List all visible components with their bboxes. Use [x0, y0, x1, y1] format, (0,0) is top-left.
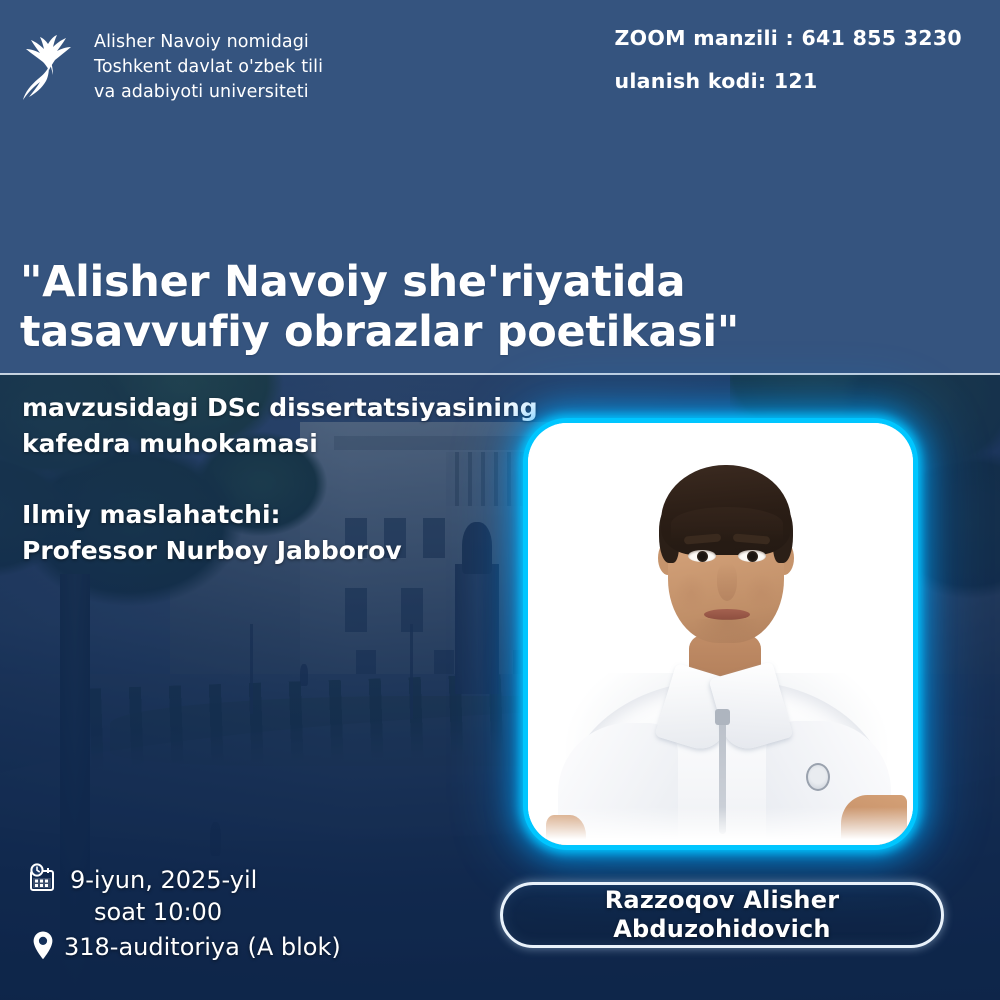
portrait-iris-left [697, 551, 708, 562]
portrait-nose [717, 563, 737, 601]
event-date-row: 9-iyun, 2025-yil [26, 862, 456, 896]
event-location-row: 318-auditoriya (A blok) [26, 928, 456, 962]
portrait-iris-right [747, 551, 758, 562]
event-info-block: 9-iyun, 2025-yil soat 10:00 318-auditori… [26, 862, 456, 962]
portrait-chin [694, 619, 760, 645]
dissertation-title: "Alisher Navoiy she'riyatida tasavvufiy … [20, 258, 920, 358]
flying-bird-logo-icon [18, 26, 80, 108]
portrait-hair [661, 465, 791, 555]
brand-block: Alisher Navoiy nomidagi Toshkent davlat … [18, 26, 323, 108]
event-time: soat 10:00 [94, 898, 456, 926]
map-pin-icon [26, 928, 60, 962]
zoom-info-block: ZOOM manzili : 641 855 3230 ulanish kodi… [614, 28, 962, 91]
presenter-name: Razzoqov Alisher Abduzohidovich [605, 886, 839, 944]
portrait-shirt-zipper [715, 709, 730, 725]
portrait-bottom-fade [528, 807, 913, 845]
presenter-name-badge: Razzoqov Alisher Abduzohidovich [500, 882, 944, 948]
portrait-cheek-left [674, 573, 708, 613]
dissertation-subtitle: mavzusidagi DSc dissertatsiyasining kafe… [22, 390, 542, 461]
presenter-photo-card [523, 418, 918, 850]
announcement-poster: Alisher Navoiy nomidagi Toshkent davlat … [0, 0, 1000, 1000]
portrait-shirt-emblem [806, 763, 830, 791]
zoom-address: ZOOM manzili : 641 855 3230 [614, 28, 962, 49]
scientific-advisor: Ilmiy maslahatchi: Professor Nurboy Jabb… [22, 497, 542, 570]
portrait-cheek-right [744, 573, 778, 613]
presenter-portrait [528, 423, 913, 845]
calendar-clock-icon [26, 862, 60, 896]
event-location: 318-auditoriya (A blok) [64, 930, 341, 961]
event-date: 9-iyun, 2025-yil [70, 862, 257, 894]
zoom-passcode: ulanish kodi: 121 [614, 71, 962, 92]
header-divider-line [0, 373, 1000, 375]
university-name: Alisher Navoiy nomidagi Toshkent davlat … [94, 26, 323, 105]
